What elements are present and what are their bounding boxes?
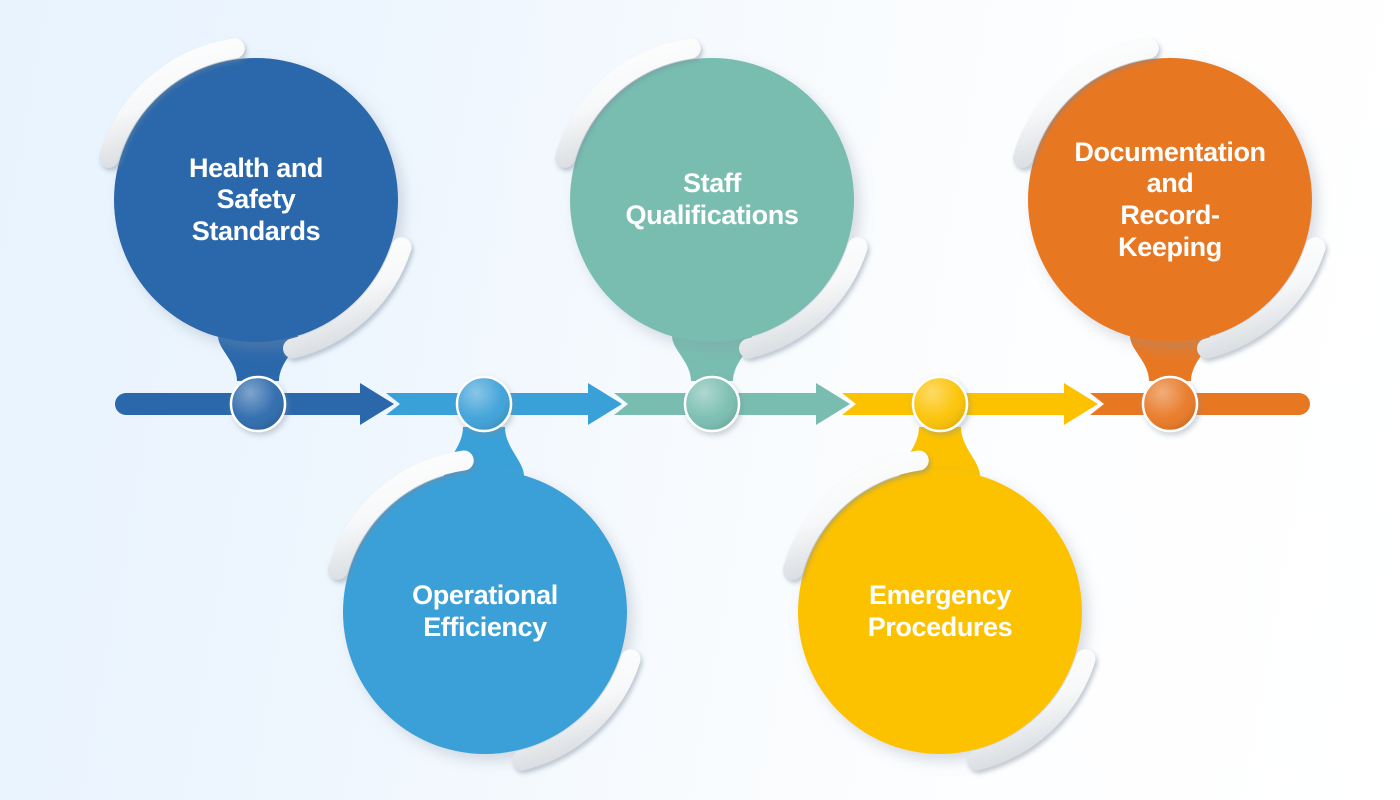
- stem-connector-3: [672, 336, 752, 381]
- node-dot-sheen: [233, 379, 284, 430]
- stem-connector-5: [1130, 336, 1210, 381]
- timeline-node-dot-1[interactable]: [231, 377, 285, 431]
- step-circle-5[interactable]: [1023, 48, 1316, 348]
- timeline-node-dot-3[interactable]: [685, 377, 739, 431]
- step-circle-fill[interactable]: [1028, 58, 1312, 342]
- step-circle-fill[interactable]: [114, 58, 398, 342]
- timeline-segment-5: [1090, 393, 1310, 415]
- timeline-node-dot-2[interactable]: [457, 377, 511, 431]
- step-circle-1[interactable]: [109, 48, 402, 348]
- node-dot-sheen: [1145, 379, 1196, 430]
- stem-shape: [672, 336, 752, 381]
- timeline-segment-4: [842, 383, 1098, 425]
- timeline-node-dot-5[interactable]: [1143, 377, 1197, 431]
- infographic-canvas: Health and Safety StandardsOperational E…: [0, 0, 1400, 800]
- timeline-diagram: [0, 0, 1400, 800]
- step-circle-fill[interactable]: [798, 470, 1082, 754]
- node-dot-sheen: [687, 379, 738, 430]
- timeline-node-dot-4[interactable]: [913, 377, 967, 431]
- node-dot-sheen: [915, 379, 966, 430]
- node-dot-sheen: [459, 379, 510, 430]
- step-circle-4[interactable]: [793, 460, 1086, 760]
- stem-shape: [1130, 336, 1210, 381]
- step-circle-3[interactable]: [565, 48, 858, 348]
- timeline-bar: [842, 383, 1098, 425]
- step-circle-fill[interactable]: [343, 470, 627, 754]
- step-circle-2[interactable]: [338, 460, 631, 760]
- step-circle-fill[interactable]: [570, 58, 854, 342]
- timeline-bar: [1090, 393, 1310, 415]
